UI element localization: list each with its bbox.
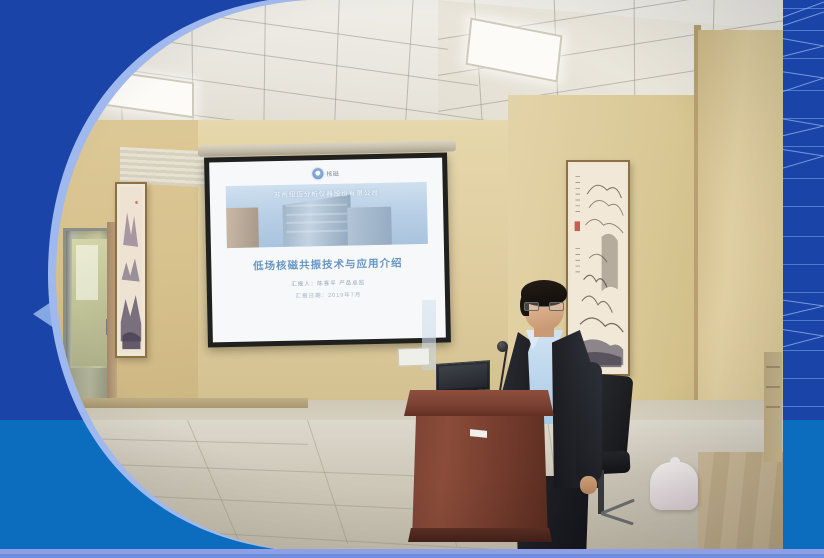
photo-frame: 核磁 苏州纽迈分析仪器股份有限公司 低场核磁共振技术与应 [8,0,824,552]
bottom-accent-strip-inner [0,554,824,558]
slide-logo-text: 核磁 [326,169,339,178]
podium-top [404,390,554,416]
laptop-screen [439,363,487,389]
scroll-painting-left [115,182,147,358]
projection-screen: 核磁 苏州纽迈分析仪器股份有限公司 低场核磁共振技术与应 [204,152,451,347]
rack-slot [766,386,780,388]
plastic-bag [650,462,698,510]
glasses-bridge [539,306,549,307]
presenter-glasses [524,302,564,311]
slide-banner-image: 苏州纽迈分析仪器股份有限公司 [226,182,428,248]
slide-logo: 核磁 [312,168,339,180]
laptop [436,360,490,394]
conference-room-photo: 核磁 苏州纽迈分析仪器股份有限公司 低场核磁共振技术与应 [8,0,824,552]
presenter-hand-right [580,476,597,494]
rack-slot [766,366,780,368]
cabinet-notice [76,245,98,300]
building-photo-left [226,208,259,248]
presentation-slide: 核磁 苏州纽迈分析仪器股份有限公司 低场核磁共振技术与应 [209,158,446,343]
screenshot-canvas: 核磁 苏州纽迈分析仪器股份有限公司 低场核磁共振技术与应 [0,0,824,558]
presenter-arm-right [576,362,602,482]
plastic-bag-knot [670,457,680,466]
wall-notice-panel [398,347,431,366]
equipment-rack [764,352,782,462]
slide-banner-caption: 苏州纽迈分析仪器股份有限公司 [226,186,427,200]
rack-slot [766,406,780,408]
microphone-head [497,341,508,352]
screen-surface: 核磁 苏州纽迈分析仪器股份有限公司 低场核磁共振技术与应 [209,158,446,343]
cabinet-glass [72,239,107,366]
floor-seam [307,420,348,544]
scroll-ink-left [120,187,142,353]
podium-base [408,528,552,542]
glasses-lens-left [524,302,539,311]
slide-subtitle-presenter: 汇报人：陈喜平 产品总监 [291,278,365,288]
company-logo-icon [312,168,323,179]
slide-subtitle-date: 汇报日期：2019年7月 [295,290,361,299]
building-photo-side [347,206,392,245]
glasses-lens-right [549,302,564,311]
slide-title: 低场核磁共振技术与应用介绍 [253,255,403,273]
floor-seam [187,420,239,540]
